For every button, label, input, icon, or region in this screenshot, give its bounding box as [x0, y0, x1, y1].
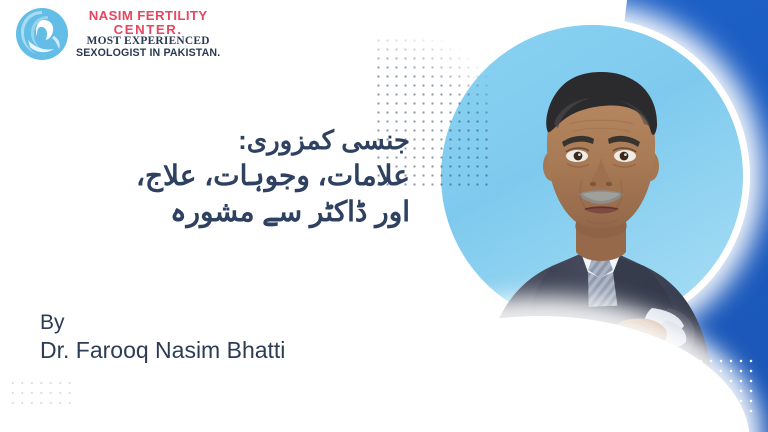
- white-bottom-block: [0, 402, 520, 432]
- logo-line-2: CENTER.: [114, 23, 183, 37]
- thumbnail-canvas: NASIM FERTILITY CENTER. MOST EXPERIENCED…: [0, 0, 768, 432]
- headline-line-2: علامات، وجوہات، علاج،: [40, 158, 410, 194]
- brand-logo[interactable]: NASIM FERTILITY CENTER. MOST EXPERIENCED…: [14, 6, 220, 62]
- headline-line-3: اور ڈاکٹر سے مشورہ: [40, 194, 410, 230]
- logo-line-1: NASIM FERTILITY: [89, 9, 208, 23]
- byline-prefix: By: [40, 310, 285, 336]
- dot-grid-bottom-right-icon: [666, 356, 754, 414]
- byline: By Dr. Farooq Nasim Bhatti: [40, 310, 285, 364]
- logo-line-4: SEXOLOGIST IN PAKISTAN.: [76, 48, 220, 59]
- byline-name: Dr. Farooq Nasim Bhatti: [40, 336, 285, 364]
- headline-line-1: جنسی کمزوری:: [40, 124, 410, 158]
- mother-and-child-circle-logo-icon: [14, 6, 70, 62]
- brand-logo-text: NASIM FERTILITY CENTER. MOST EXPERIENCED…: [76, 9, 220, 59]
- headline-urdu: جنسی کمزوری: علامات، وجوہات، علاج، اور ڈ…: [40, 124, 410, 231]
- dot-grid-bottom-left-icon: [8, 378, 76, 412]
